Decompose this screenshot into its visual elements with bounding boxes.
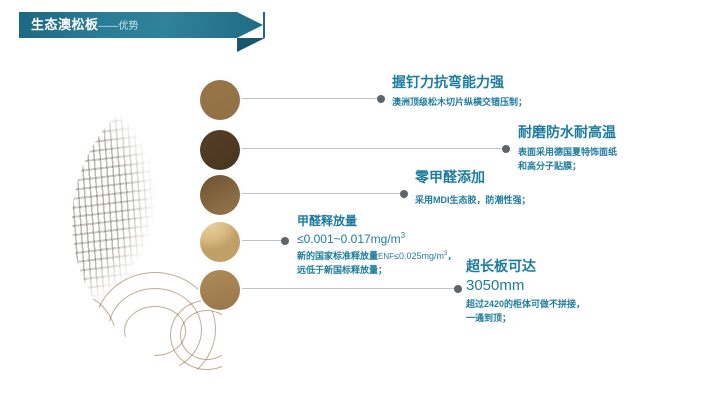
connector-dot-5	[454, 285, 462, 293]
callout-extra-long-board: 超长板可达 3050mm 超过2420的柜体可做不拼接， 一通到顶；	[466, 258, 585, 325]
callout-value: 3050mm	[466, 277, 585, 296]
photo-bubble-3[interactable]	[198, 173, 242, 217]
callout-line: 澳洲顶级松木切片纵横交错压制；	[392, 96, 527, 109]
value-operator: ≤	[297, 232, 304, 246]
connector-dot-1	[377, 95, 385, 103]
connector-line-2	[228, 148, 506, 149]
connector-dot-3	[400, 190, 408, 198]
callout-line: 一通到顶；	[466, 312, 585, 325]
callout-line: 和高分子贴膜；	[518, 160, 617, 173]
bubble-image	[198, 173, 242, 217]
banner-title: 生态澳松板	[31, 17, 99, 32]
bubble-image	[198, 128, 242, 172]
connector-dot-4	[281, 237, 289, 245]
section-banner: 生态澳松板——优势	[19, 12, 265, 38]
callout-line: 采用MDI生态胶，防潮性强；	[415, 194, 531, 207]
standard-unit: mg/m	[422, 251, 445, 261]
callout-line: 表面采用德国夏特饰面纸	[518, 146, 617, 159]
bubble-image	[198, 268, 242, 312]
callout-nail-holding: 握钉力抗弯能力强 澳洲顶级松木切片纵横交错压制；	[392, 74, 527, 109]
standard-value: 0.025	[399, 251, 422, 261]
callout-title: 甲醛释放量	[297, 214, 456, 229]
callout-formaldehyde-emission: 甲醛释放量 ≤0.001~0.017mg/m3 新的国家标准释放量ENF≤0.0…	[297, 214, 456, 277]
banner-subtitle: ——优势	[99, 21, 139, 32]
connector-dot-2	[502, 145, 510, 153]
callout-value: ≤0.001~0.017mg/m3	[297, 231, 456, 248]
banner-fold	[237, 38, 265, 52]
value-unit: mg/m	[371, 232, 401, 246]
callout-zero-formaldehyde: 零甲醛添加 采用MDI生态胶，防潮性强；	[415, 169, 531, 207]
callout-title: 耐磨防水耐高温	[518, 124, 617, 142]
value-exponent: 3	[401, 231, 406, 240]
photo-bubble-2[interactable]	[198, 128, 242, 172]
standard-tail: ，	[447, 251, 456, 261]
connector-line-5	[228, 288, 458, 289]
standard-code: ENF	[378, 252, 394, 261]
connector-line-3	[228, 193, 404, 194]
callout-title: 零甲醛添加	[415, 169, 531, 187]
callout-line: 远低于新国标释放量；	[297, 264, 456, 277]
slide-canvas: 生态澳松板——优势	[0, 0, 720, 405]
photo-bubble-4[interactable]	[198, 220, 242, 264]
banner-notch	[237, 12, 263, 38]
photo-bubble-5[interactable]	[198, 268, 242, 312]
banner-label: 生态澳松板——优势	[31, 12, 139, 38]
callout-title: 握钉力抗弯能力强	[392, 74, 527, 92]
standard-label: 新的国家标准释放量	[297, 251, 378, 261]
callout-title: 超长板可达	[466, 258, 585, 276]
connector-line-1	[228, 98, 381, 99]
bubble-image	[198, 220, 242, 264]
bubble-image	[198, 78, 242, 122]
callout-wear-water-heat: 耐磨防水耐高温 表面采用德国夏特饰面纸 和高分子贴膜；	[518, 124, 617, 173]
photo-bubble-1[interactable]	[198, 78, 242, 122]
callout-line: 超过2420的柜体可做不拼接，	[466, 298, 585, 311]
callout-standard-line: 新的国家标准释放量ENF≤0.025mg/m3，	[297, 250, 456, 263]
value-number: 0.001~0.017	[304, 232, 371, 246]
